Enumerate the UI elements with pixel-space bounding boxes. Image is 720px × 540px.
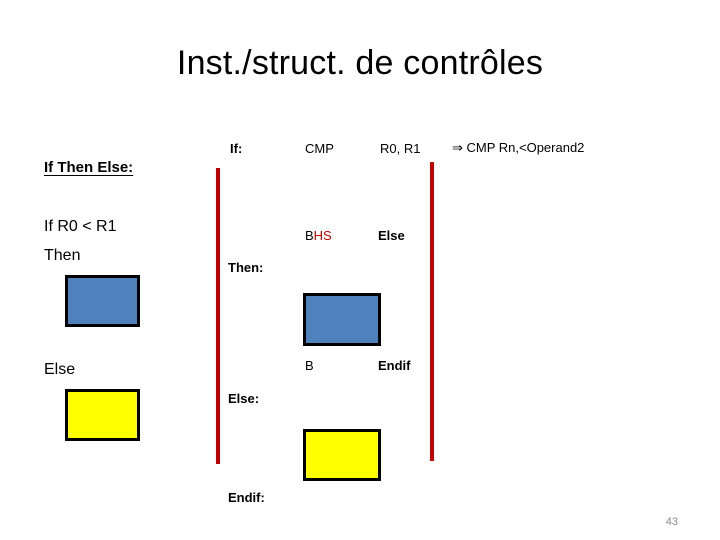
pseudocode-else-block [65,389,140,441]
asm-label-if: If: [230,142,242,156]
asm-mnemonic-bhs: BHS [305,229,332,243]
pseudocode-heading: If Then Else: [44,160,133,177]
guide-line-left [216,168,220,464]
pseudocode-then-keyword: Then [44,247,80,265]
asm-mnemonic-bhs-prefix: B [305,228,314,243]
page-title: Inst./struct. de contrôles [0,44,720,83]
guide-line-right [430,162,434,461]
asm-label-endif: Endif: [228,491,265,505]
asm-mnemonic-cmp: CMP [305,142,334,156]
asm-label-else: Else: [228,392,259,406]
slide-canvas: Inst./struct. de contrôles If Then Else:… [0,0,720,540]
asm-branch-target-endif: Endif [378,359,411,373]
asm-label-then: Then: [228,261,263,275]
asm-mnemonic-b: B [305,359,314,373]
pseudocode-else-keyword: Else [44,361,75,379]
asm-mnemonic-bhs-suffix: HS [314,228,332,243]
asm-branch-target-else: Else [378,229,405,243]
asm-then-block [303,293,381,346]
page-number: 43 [666,516,678,528]
pseudocode-then-block [65,275,140,327]
asm-comment-cmp-syntax: ⇒ CMP Rn,<Operand2 [452,141,584,155]
asm-else-block [303,429,381,481]
asm-operands-r0-r1: R0, R1 [380,142,420,156]
pseudocode-if-condition: If R0 < R1 [44,218,116,236]
